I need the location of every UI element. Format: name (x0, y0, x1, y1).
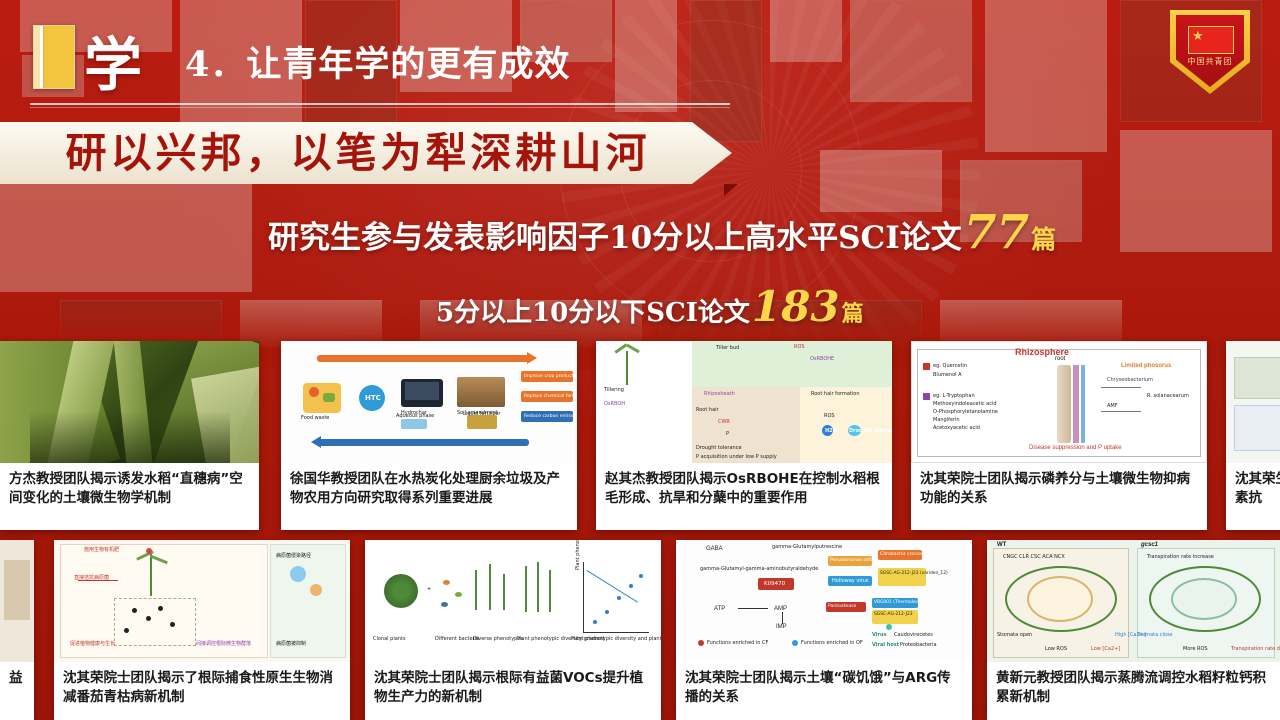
card-row1-4[interactable]: Rhizosphere Limited phosorus eg: Quercet… (911, 341, 1207, 530)
fig-node-liquid-fertilizer: Liquid fertilizer (463, 411, 500, 417)
header-divider (30, 103, 730, 105)
card-row1-5[interactable]: 沈其荣生素抗 (1226, 341, 1280, 530)
fig-label-social-benefits: Social economic and environmental benefi… (341, 348, 478, 354)
fig-label-tiller-bud: Tiller bud (716, 345, 739, 351)
card-row2-4[interactable]: WT gcsc1 CNGC CLR CSC ACA NCX Transpirat… (987, 540, 1280, 720)
fig-label-tryptophan: eg: L-Tryptophan (933, 393, 975, 399)
fig-label-ros-top: ROS (794, 344, 805, 350)
fig-label-clonal-plants: Clonal plants (373, 636, 406, 642)
fig-legend-viral-host: Viral host (872, 642, 899, 648)
fig-label-cn-left: 直接拮抗病原菌 (74, 574, 109, 581)
fig-label-wt: WT (997, 542, 1006, 548)
fig-label-drought-tolerance: Drought tolerance (696, 445, 742, 451)
header-badge-char: 学 (84, 18, 144, 102)
fig-label-channels-wt: CNGC CLR CSC ACA NCX (1003, 554, 1065, 560)
card-row2-3[interactable]: GABA gamma-Glutamylputrescine gamma-Glut… (676, 540, 972, 720)
fig-label-atp: ATP (714, 606, 725, 612)
fig-label-p-acquisition: P acquisition under low P supply (696, 454, 777, 460)
stat1-prefix: 研究生参与发表影响因子10分以上高水平SCI论文 (268, 220, 962, 256)
emblem-label: 中国共青团 (1176, 56, 1244, 67)
fig-label-gaba: GABA (706, 546, 723, 552)
fig-label-citrobacter: Citrobacter cronosii_AL (880, 552, 933, 557)
card-row2-2-caption: 沈其荣院士团队揭示根际有益菌VOCs提升植物生产力的新机制 (365, 662, 661, 720)
fig-label-imp: IMP (776, 624, 787, 630)
fig-footer-disease-suppression: Disease suppression and P uptake (1029, 445, 1122, 451)
fig-node-htc: HTC (365, 394, 381, 402)
fig-label-h2o: Drought tolerance (849, 428, 892, 434)
fig-label-osrbohe-mid: Rhizosheath (704, 391, 735, 397)
fig-label-transpiration-up: Stomata open (997, 632, 1032, 638)
card-row1-4-caption: 沈其荣院士团队揭示磷养分与土壤微生物抑病功能的关系 (911, 463, 1207, 530)
card-row2-2[interactable]: Clonal plants + Different bacteria Diver… (365, 540, 661, 720)
fig-label-p: H2O (825, 428, 837, 434)
card-row2-4-caption: 黄新元教授团队揭示蒸腾流调控水稻籽粒钙积累新机制 (987, 662, 1280, 720)
header-divider-thin (30, 107, 730, 108)
fig-label-acetoxy: Acetoxyacetic acid (933, 425, 980, 431)
card-row2-1[interactable]: 施用生物有机肥 直接拮抗病原菌 促进植物健康与生长 间接调控根际微生物群落 病原… (54, 540, 350, 720)
fig-label-pseudomonas: Pseudomonas otitidis (830, 558, 879, 563)
card-row1-1-caption: 方杰教授团队揭示诱发水稻“直穗病”空间变化的土壤微生物学机制 (0, 463, 259, 530)
fig-label-rsolanacearum: R. solanacearum (1147, 393, 1189, 399)
fig-label-root-hair-formation: Root hair (696, 407, 719, 413)
fig-label-cn-top: 施用生物有机肥 (84, 546, 119, 553)
card-row2-1-caption: 沈其荣院士团队揭示了根际捕食性原生生物消减番茄青枯病新机制 (54, 662, 350, 720)
card-row1-1[interactable]: 方杰教授团队揭示诱发水稻“直穗病”空间变化的土壤微生物学机制 (0, 341, 259, 530)
page-title: 4．让青年学的更有成效 (185, 36, 570, 87)
fig-title-limited-phosphorus: Limited phosorus (1121, 363, 1171, 369)
fig-label-vbg001: VBG001 (Thermoleophilia) (874, 600, 932, 605)
card-row1-1-figure (0, 341, 259, 463)
stat-line-2: 5分以上10分以下SCI论文183篇 (436, 282, 864, 331)
fig-label-chryseobacterium: Chryseobacterium (1107, 377, 1153, 383)
fig-label-osrboh: OsRBOH (604, 401, 625, 407)
fig-tag-replace-fertilizer: Replace chemical fertilizer (524, 394, 577, 399)
fig-label-more-ros: Transpiration rate decrease (1231, 646, 1280, 652)
fig-label-high-ca: Stomata close (1137, 632, 1173, 638)
fig-label-channels-mut: Transpiration rate increase (1147, 554, 1214, 560)
fig-label-low-ros: Low [Ca2+] (1091, 646, 1120, 652)
banner-text: 研以兴邦，以笔为犁深耕山河 (8, 128, 708, 178)
card-row1-2-figure: Social economic and environmental benefi… (281, 341, 577, 463)
fig-label-glutamylputrescine: gamma-Glutamylputrescine (772, 544, 842, 550)
fig-label-osrbohe-top: OsRBOHE (810, 356, 834, 362)
fig-label-root: root (1055, 356, 1065, 362)
card-row1-3-figure: Tillering Tiller bud ROS OsRBOHE OsRBOH … (596, 341, 892, 463)
fig-label-amp: AMP (774, 606, 787, 612)
fig-label-stomata-open: Low ROS (1045, 646, 1067, 652)
fig-label-ros-mid: CWR (718, 419, 730, 425)
fig-tag-improve-crop: Improve crop production (524, 374, 577, 379)
slide-header: 学 4．让青年学的更有成效 ★ 中国共青团 (0, 0, 1280, 110)
card-row1-2-caption: 徐国华教授团队在水热炭化处理厨余垃圾及产物农用方向研究取得系列重要进展 (281, 463, 577, 530)
stat1-number: 77 (962, 205, 1031, 260)
fig-label-mangiferin: Mangiferin (933, 417, 960, 423)
fig-label-sgsc2: SGSC-AG-212-J23 (874, 612, 913, 617)
fig-label-cn-right: 病原菌侵染路径 (276, 552, 311, 559)
fig-label-holloway: Holloway virus (832, 578, 869, 584)
stat2-number: 183 (750, 282, 842, 331)
fig-label-cn-bottom2: 间接调控根际微生物群落 (196, 640, 251, 647)
fig-label-aminobutyraldehyde: gamma-Glutamyl-gamma-aminobutyraldehyde (700, 566, 818, 572)
fig-label-pantoatease: Pantoatease (828, 604, 856, 609)
fig-label-cn-right2: 病原菌被抑制 (276, 640, 306, 647)
fig-label-methoxy: Methoxyindoleacetic acid (933, 401, 997, 407)
stat2-prefix: 5分以上10分以下SCI论文 (436, 298, 750, 328)
card-row1-4-figure: Rhizosphere Limited phosorus eg: Quercet… (911, 341, 1207, 463)
fig-tag-reduce-carbon: Reduce carbon emission (524, 414, 577, 419)
card-row1-5-figure (1226, 341, 1280, 463)
card-row1-2[interactable]: Social economic and environmental benefi… (281, 341, 577, 530)
card-row2-0[interactable]: 益 (0, 540, 34, 720)
fig-label-rhizosheath: Root hair formation (811, 391, 859, 397)
card-row2-4-figure: WT gcsc1 CNGC CLR CSC ACA NCX Transpirat… (987, 540, 1280, 662)
card-row2-1-figure: 施用生物有机肥 直接拮抗病原菌 促进植物健康与生长 间接调控根际微生物群落 病原… (54, 540, 350, 662)
fig-label-sgsc: SGSC-AG-212-J23 (variden_12) (880, 571, 948, 576)
card-row1-5-caption: 沈其荣生素抗 (1226, 463, 1280, 530)
fig-label-cwr: P (726, 431, 729, 437)
stat-line-1: 研究生参与发表影响因子10分以上高水平SCI论文77篇 (268, 205, 1056, 260)
fig-label-quercetin: eg: Quercetin (933, 363, 967, 369)
card-row1-3[interactable]: Tillering Tiller bud ROS OsRBOHE OsRBOH … (596, 341, 892, 530)
fig-label-diverse-phenotypes: Diverse phenotypes (473, 636, 523, 642)
fig-label-blumenol: Blumenol A (933, 372, 962, 378)
card-row1-3-caption: 赵其杰教授团队揭示OsRBOHE在控制水稻根毛形成、抗旱和分蘖中的重要作用 (596, 463, 892, 530)
fig-label-amf: AMF (1107, 403, 1118, 409)
fig-node-aqueous-phase: Aqueous phase (396, 413, 434, 419)
fig-label-plant-productivity: Plant phenotypic diversity (575, 540, 581, 570)
fig-label-ophospho: O-Phosphoryletanolamine (933, 409, 998, 415)
fig-node-food-waste: Food waste (301, 415, 329, 421)
fig-label-diversity-productivity: Plant phenotypic diversity and plant pro… (571, 636, 661, 642)
card-row2-3-figure: GABA gamma-Glutamylputrescine gamma-Glut… (676, 540, 972, 662)
fig-legend-cf: Functions enriched in CF (707, 640, 768, 646)
fig-label-cn-bottom: 促进植物健康与生长 (70, 640, 115, 647)
fig-label-stomata-close: More ROS (1183, 646, 1208, 652)
fig-label-gcsc1: gcsc1 (1141, 542, 1158, 548)
fig-legend-proteobacteria: Proteobacteria (900, 642, 937, 648)
fig-label-root-hair: ROS (824, 413, 835, 419)
card-row2-3-caption: 沈其荣院士团队揭示土壤“碳饥饿”与ARG传播的关系 (676, 662, 972, 720)
card-row2-0-figure (0, 540, 34, 662)
fig-legend-caudovirecetes: Caudovirecetes (894, 632, 933, 638)
youth-league-emblem-icon: ★ 中国共青团 (1162, 6, 1258, 106)
stat1-unit: 篇 (1031, 225, 1056, 254)
fig-legend-of: Functions enriched in OF (801, 640, 863, 646)
fig-label-k09470: K09470 (764, 581, 785, 587)
book-icon (33, 25, 75, 89)
card-row2-2-figure: Clonal plants + Different bacteria Diver… (365, 540, 661, 662)
fig-label-circular-economy: Circular economy in food-energy-water ne… (345, 432, 487, 438)
fig-label-tillering: Tillering (604, 387, 624, 393)
stat2-unit: 篇 (842, 301, 864, 327)
fig-legend-virus: Virus (872, 632, 887, 638)
